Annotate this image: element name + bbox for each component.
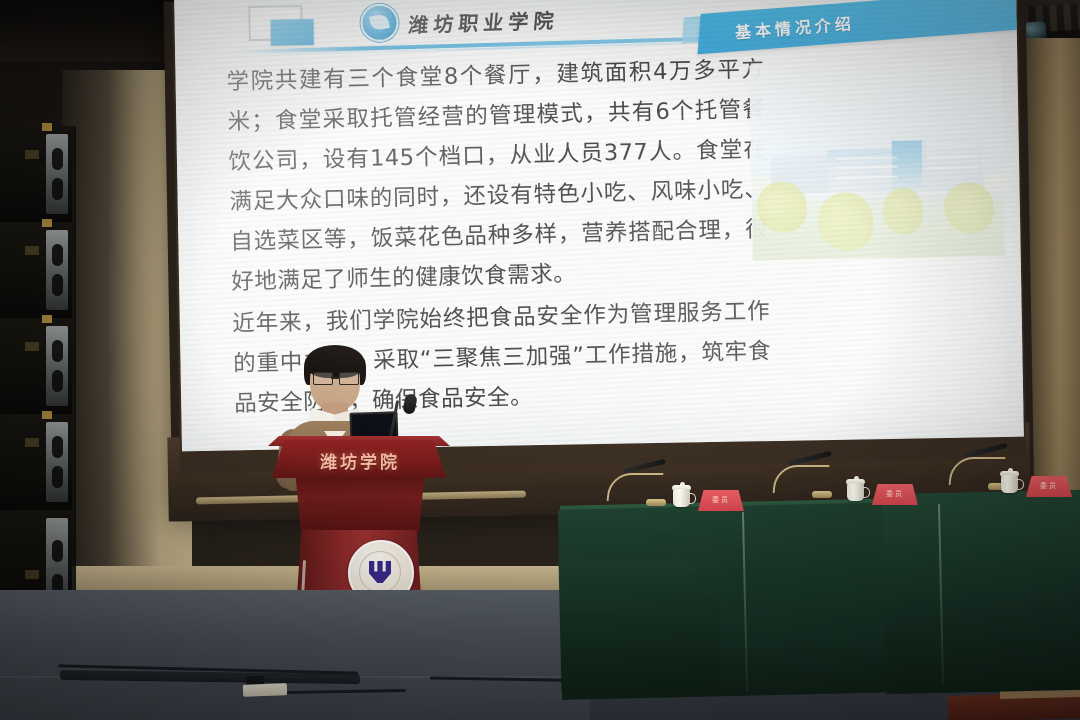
- name-card-label: 委员: [872, 489, 918, 499]
- tea-cup: [846, 476, 866, 502]
- university-seal-icon: [360, 3, 399, 42]
- section-banner-label: 基本情况介绍: [734, 10, 856, 43]
- podium-title: 潍坊学院: [300, 448, 420, 473]
- rectangle-filled-icon: [270, 19, 313, 46]
- name-card-label: 委员: [698, 495, 744, 505]
- name-card: 委员: [872, 484, 918, 505]
- campus-photo: [749, 61, 1004, 260]
- line-array-speaker-stack: [0, 126, 72, 616]
- name-card: 委员: [698, 490, 744, 511]
- conference-table-front: [559, 558, 722, 692]
- name-card-label: 委员: [1026, 481, 1072, 491]
- photo-haze-overlay: [749, 61, 1004, 260]
- gooseneck-microphone: [606, 466, 668, 506]
- emblem-glyph: [369, 561, 391, 583]
- section-banner: 基本情况介绍: [697, 0, 1023, 54]
- slide-logo-rectangles: [248, 5, 315, 46]
- floor-power-strip: [243, 683, 287, 697]
- conference-table-cloth-right: [882, 490, 1080, 694]
- glasses-icon: [313, 372, 357, 383]
- slide-paragraph-1: 学院共建有三个食堂8个餐厅，建筑面积4万多平方米；食堂采取托管经营的管理模式，共…: [226, 49, 770, 302]
- school-name: 潍坊职业学院: [407, 4, 560, 38]
- podium-midsection: [290, 477, 430, 533]
- school-branding: 潍坊职业学院: [360, 1, 559, 42]
- stage-floor-front: [0, 590, 590, 720]
- screenshot-root: 潍坊职业学院 基本情况介绍 学院共建有三个食堂8个餐厅，建筑面积4万多平方米；食…: [0, 0, 1080, 720]
- tea-cup: [672, 482, 692, 508]
- tea-cup: [1000, 468, 1020, 494]
- gooseneck-microphone: [772, 458, 834, 498]
- name-card: 委员: [1026, 476, 1072, 497]
